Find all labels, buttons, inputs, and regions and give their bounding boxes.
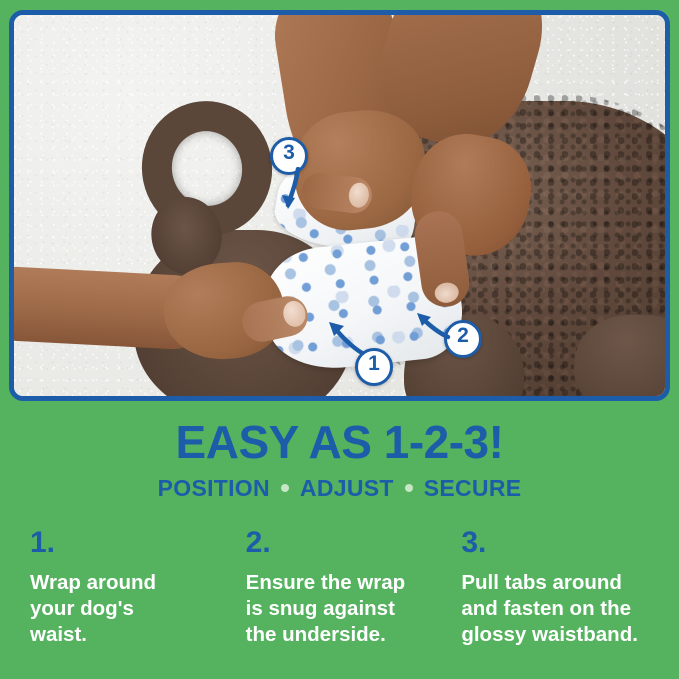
subtitle-part-secure: SECURE [424, 475, 522, 502]
headline-subtitle: POSITION ADJUST SECURE [0, 475, 679, 502]
up-left-arrow-icon [326, 319, 366, 357]
up-left-arrow-icon [414, 311, 452, 343]
headline-title: EASY AS 1-2-3! [0, 419, 679, 466]
step-description: Ensure the wrap is snug against the unde… [246, 570, 446, 647]
headline-block: EASY AS 1-2-3! POSITION ADJUST SECURE [0, 419, 679, 502]
step-item: 3. Pull tabs around and fasten on the gl… [461, 528, 661, 647]
subtitle-separator-dot [405, 484, 413, 492]
step-item: 1. Wrap around your dog's waist. [30, 528, 230, 647]
photo-stage: 3 1 2 [14, 15, 665, 396]
step-description: Wrap around your dog's waist. [30, 570, 230, 647]
instruction-photo-panel: 3 1 2 [9, 10, 670, 401]
step-number: 1. [30, 528, 230, 558]
subtitle-part-position: POSITION [158, 475, 270, 502]
step-description: Pull tabs around and fasten on the gloss… [461, 570, 661, 647]
step-item: 2. Ensure the wrap is snug against the u… [246, 528, 446, 647]
subtitle-part-adjust: ADJUST [300, 475, 394, 502]
step-number: 2. [246, 528, 446, 558]
subtitle-separator-dot [281, 484, 289, 492]
infographic-root: 3 1 2 EASY AS 1-2-3! POSITION AD [0, 0, 679, 679]
down-left-arrow-icon [280, 167, 308, 211]
step-number: 3. [461, 528, 661, 558]
steps-list: 1. Wrap around your dog's waist. 2. Ensu… [30, 528, 661, 647]
